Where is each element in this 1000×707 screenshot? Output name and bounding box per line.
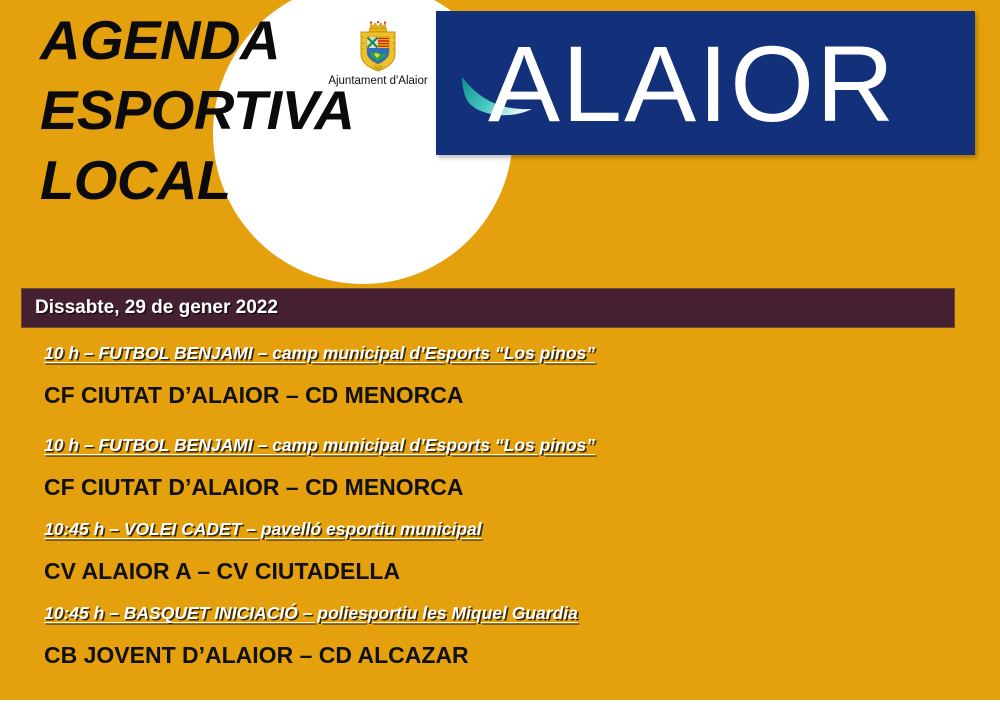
spacer	[0, 410, 1000, 432]
bottom-white-strip	[0, 700, 1000, 707]
alaior-coat-of-arms-icon	[349, 20, 407, 74]
spacer	[0, 586, 1000, 600]
event-header: 10 h – FUTBOL BENJAMI – camp municipal d…	[0, 340, 1000, 366]
title-line-3: LOCAL	[40, 154, 570, 208]
list-item: 10 h – FUTBOL BENJAMI – camp municipal d…	[0, 432, 1000, 502]
alaior-wordmark: ALAIOR	[488, 25, 896, 143]
list-item: 10 h – FUTBOL BENJAMI – camp municipal d…	[0, 340, 1000, 410]
date-banner: Dissabte, 29 de gener 2022	[21, 288, 955, 328]
sports-agenda-poster: AGENDA ESPORTIVA LOCAL	[0, 0, 1000, 707]
event-header: 10:45 h – BASQUET INICIACIÓ – poliesport…	[0, 600, 1000, 626]
date-label: Dissabte, 29 de gener 2022	[35, 297, 278, 319]
list-item: 10:45 h – VOLEI CADET – pavelló esportiu…	[0, 516, 1000, 586]
event-teams: CF CIUTAT D’ALAIOR – CD MENORCA	[0, 472, 1000, 502]
poster-header: AGENDA ESPORTIVA LOCAL	[0, 0, 1000, 288]
event-teams: CF CIUTAT D’ALAIOR – CD MENORCA	[0, 380, 1000, 410]
event-header: 10:45 h – VOLEI CADET – pavelló esportiu…	[0, 516, 1000, 542]
spacer	[0, 502, 1000, 516]
event-teams: CV ALAIOR A – CV CIUTADELLA	[0, 556, 1000, 586]
ajuntament-emblem: Ajuntament d'Alaior	[318, 20, 438, 87]
event-list: 10 h – FUTBOL BENJAMI – camp municipal d…	[0, 340, 1000, 670]
list-item: 10:45 h – BASQUET INICIACIÓ – poliesport…	[0, 600, 1000, 670]
alaior-brand-logo: ALAIOR	[436, 11, 975, 155]
event-teams: CB JOVENT D’ALAIOR – CD ALCAZAR	[0, 640, 1000, 670]
emblem-caption: Ajuntament d'Alaior	[318, 75, 438, 87]
event-header: 10 h – FUTBOL BENJAMI – camp municipal d…	[0, 432, 1000, 458]
